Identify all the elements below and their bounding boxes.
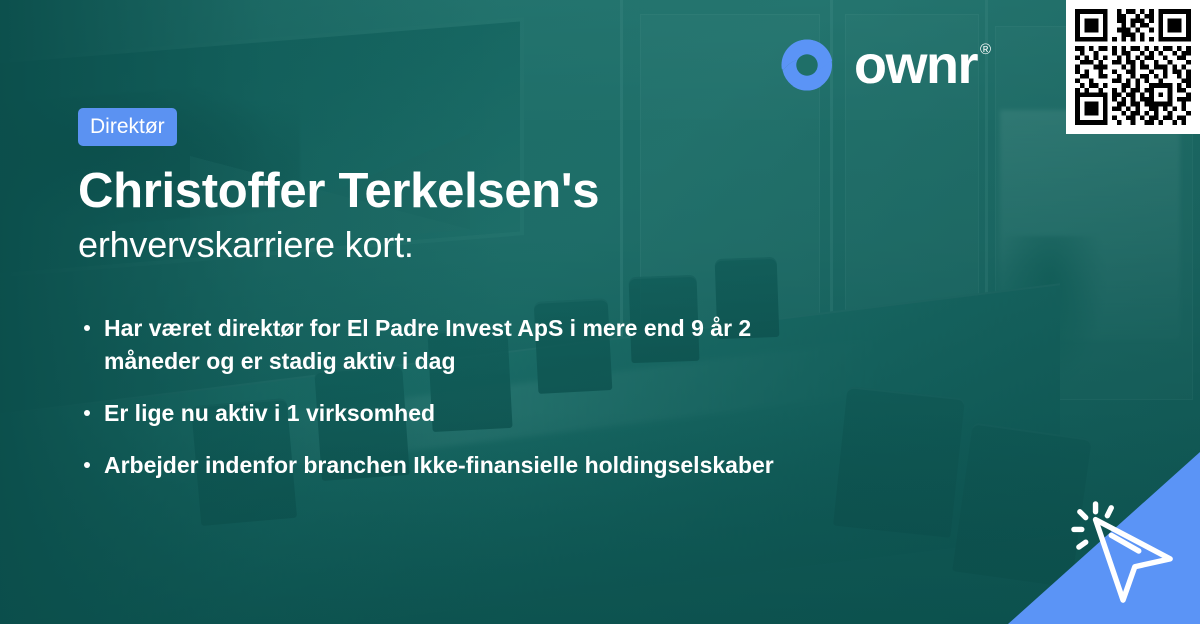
page-title: Christoffer Terkelsen's erhvervskarriere… [78, 163, 958, 268]
click-cursor-icon [1066, 498, 1184, 606]
qr-code[interactable] [1066, 0, 1200, 134]
list-item: Er lige nu aktiv i 1 virksomhed [78, 397, 804, 430]
title-line-1: Christoffer Terkelsen's [78, 163, 958, 220]
bullet-dot-icon [84, 410, 90, 416]
ownr-logo[interactable]: ownr ® [778, 34, 991, 96]
career-card: ownr ® Direktør Christoffer Terkelsen's … [0, 0, 1200, 624]
list-item: Har været direktør for El Padre Invest A… [78, 312, 804, 378]
career-facts-list: Har været direktør for El Padre Invest A… [78, 312, 978, 482]
bullet-dot-icon [84, 462, 90, 468]
ownr-wordmark-group: ownr ® [854, 38, 991, 92]
title-line-2: erhvervskarriere kort: [78, 222, 958, 268]
ownr-wordmark: ownr [854, 38, 977, 92]
bullet-dot-icon [84, 325, 90, 331]
headline-block: Direktør Christoffer Terkelsen's erhverv… [78, 108, 958, 268]
list-item-text: Er lige nu aktiv i 1 virksomhed [104, 400, 435, 426]
registered-trademark-icon: ® [980, 40, 991, 60]
list-item-text: Arbejder indenfor branchen Ikke-finansie… [104, 452, 774, 478]
ownr-circle-mark [778, 36, 836, 94]
list-item: Arbejder indenfor branchen Ikke-finansie… [78, 449, 978, 482]
qr-code-image [1066, 0, 1200, 134]
role-badge: Direktør [78, 108, 177, 146]
list-item-text: Har været direktør for El Padre Invest A… [104, 315, 751, 374]
